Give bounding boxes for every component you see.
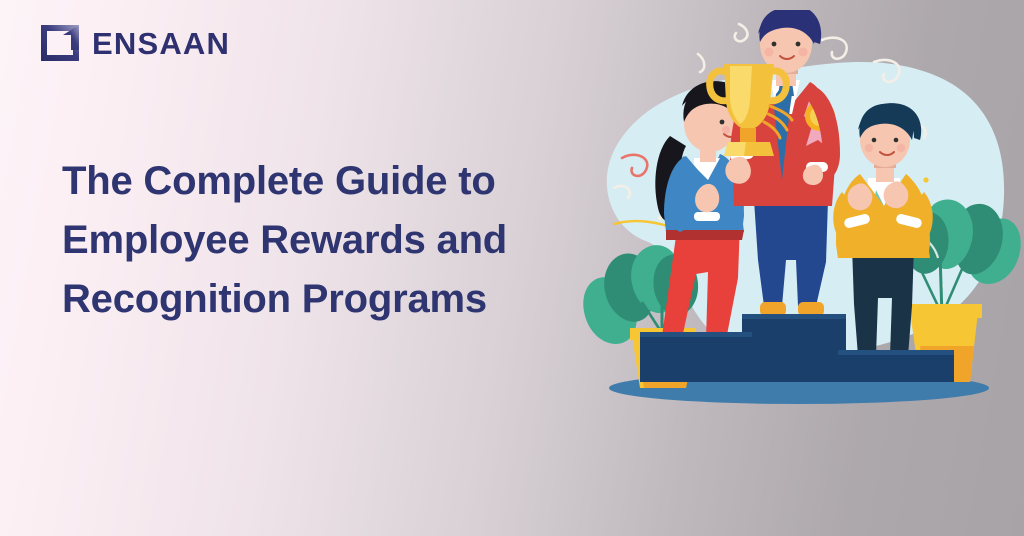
marketing-banner: ENSAAN The Complete Guide to Employee Re… xyxy=(0,0,1024,536)
podium-award-ceremony-illustration: 1 xyxy=(574,10,1024,430)
podium-step-second xyxy=(640,332,752,382)
podium-step-first xyxy=(742,314,846,382)
page-title: The Complete Guide to Employee Rewards a… xyxy=(62,152,582,328)
ensaan-square-mark-icon xyxy=(38,21,82,65)
winner-shoe-right xyxy=(798,302,824,316)
winner-shoe-left xyxy=(760,302,786,316)
brand-logo-text: ENSAAN xyxy=(92,28,230,59)
brand-logo[interactable]: ENSAAN xyxy=(38,21,230,65)
